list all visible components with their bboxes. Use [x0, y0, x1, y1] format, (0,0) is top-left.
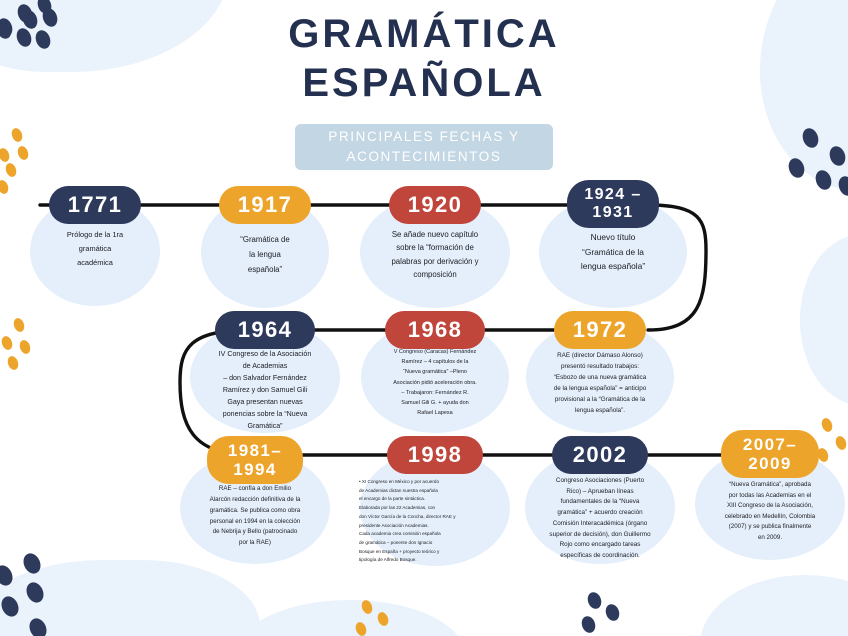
event-date-pill[interactable]: 1917 — [219, 186, 311, 224]
event-description: Se añade nuevo capítulo sobre la “formac… — [360, 228, 510, 281]
event-date-pill[interactable]: 1924 – 1931 — [567, 180, 659, 228]
event-date-pill[interactable]: 1972 — [554, 311, 646, 349]
event-description: IV Congreso de la Asociación de Academia… — [189, 348, 341, 432]
event-description: RAE (director Dámaso Alonso) presentó re… — [527, 350, 673, 416]
event-date-pill[interactable]: 1964 — [215, 311, 315, 349]
event-date-pill[interactable]: 1998 — [387, 436, 483, 474]
event-date-pill[interactable]: 1968 — [385, 311, 485, 349]
event-description: “Gramática de la lengua española” — [206, 232, 324, 278]
event-description: Nuevo título “Gramática de la lengua esp… — [543, 230, 683, 274]
event-description: V Congreso (Caracas) Fernández Ramírez –… — [365, 347, 505, 418]
event-description: RAE – confía a don Emilio Alarcón redacc… — [180, 484, 330, 549]
event-date-pill[interactable]: 2007– 2009 — [721, 430, 819, 478]
event-date-pill[interactable]: 1920 — [389, 186, 481, 224]
event-date-pill[interactable]: 1771 — [49, 186, 141, 224]
event-date-pill[interactable]: 1981– 1994 — [207, 436, 303, 484]
event-description: “Nueva Gramática”, aprobada por todas la… — [697, 480, 843, 543]
event-description: Congreso Asociaciones (Puerto Rico) – Ap… — [524, 476, 676, 562]
infographic-canvas: GRAMÁTICA ESPAÑOLA PRINCIPALES FECHAS Y … — [0, 0, 848, 636]
event-description: Prólogo de la 1ra gramática académica — [35, 228, 155, 270]
event-date-pill[interactable]: 2002 — [552, 436, 648, 474]
event-description: • XI Congreso en México y por acuerdo de… — [359, 478, 511, 565]
